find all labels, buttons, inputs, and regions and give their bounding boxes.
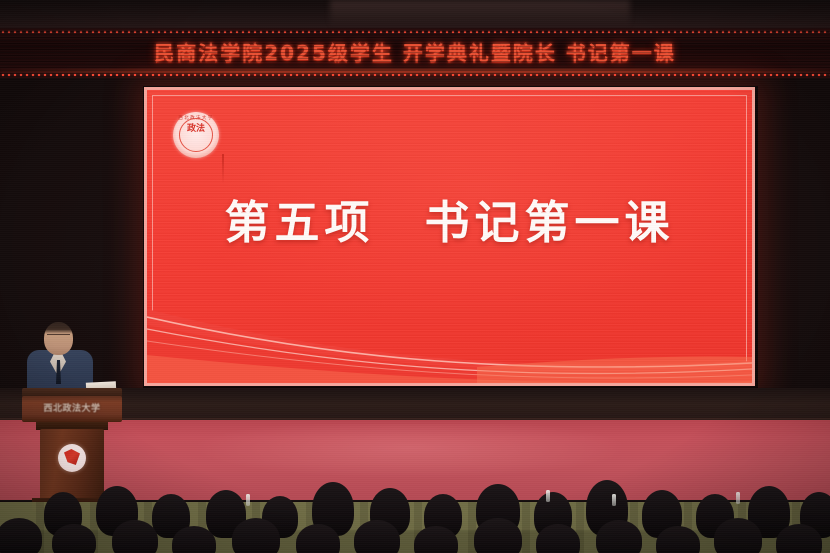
- screen-surface: 西北政法大学 政法 第五项 书记第一课: [147, 90, 752, 383]
- screen-university-emblem: 西北政法大学 政法: [173, 112, 219, 158]
- emblem-center-text: 政法: [184, 124, 208, 144]
- audience-head: [52, 524, 96, 553]
- emblem-arc-text: 西北政法大学: [173, 115, 219, 121]
- water-bottle: [612, 494, 616, 506]
- audience-head: [714, 518, 762, 553]
- water-bottle: [546, 490, 550, 502]
- water-bottle: [736, 492, 740, 504]
- audience-head: [232, 518, 280, 553]
- wall-light-sheen: [330, 0, 630, 27]
- emblem-banner-stem: [222, 154, 224, 184]
- water-bottle: [246, 494, 250, 506]
- upper-wall-band: [0, 0, 830, 30]
- audience-head: [596, 520, 642, 553]
- led-dot-border-top: [0, 30, 830, 34]
- screen-headline: 第五项 书记第一课: [147, 186, 752, 251]
- projection-screen: 西北政法大学 政法 第五项 书记第一课: [143, 86, 758, 389]
- audience-head: [354, 520, 400, 553]
- led-banner: 民商法学院2025级学生 开学典礼暨院长 书记第一课: [0, 28, 830, 78]
- led-banner-text: 民商法学院2025级学生 开学典礼暨院长 书记第一课: [0, 37, 830, 66]
- audience-area: [0, 468, 830, 553]
- audience-head: [0, 518, 42, 553]
- led-dot-border-bottom: [0, 73, 830, 77]
- podium-nameplate-text: 西北政法大学: [22, 401, 122, 414]
- audience-head: [474, 518, 522, 553]
- auditorium-scene: 民商法学院2025级学生 开学典礼暨院长 书记第一课 西北政法大学: [0, 0, 830, 553]
- audience-head: [112, 520, 158, 553]
- podium-nameplate: 西北政法大学: [22, 396, 122, 422]
- ribbon-decoration: [147, 263, 752, 383]
- speaker-glasses-icon: [47, 334, 70, 340]
